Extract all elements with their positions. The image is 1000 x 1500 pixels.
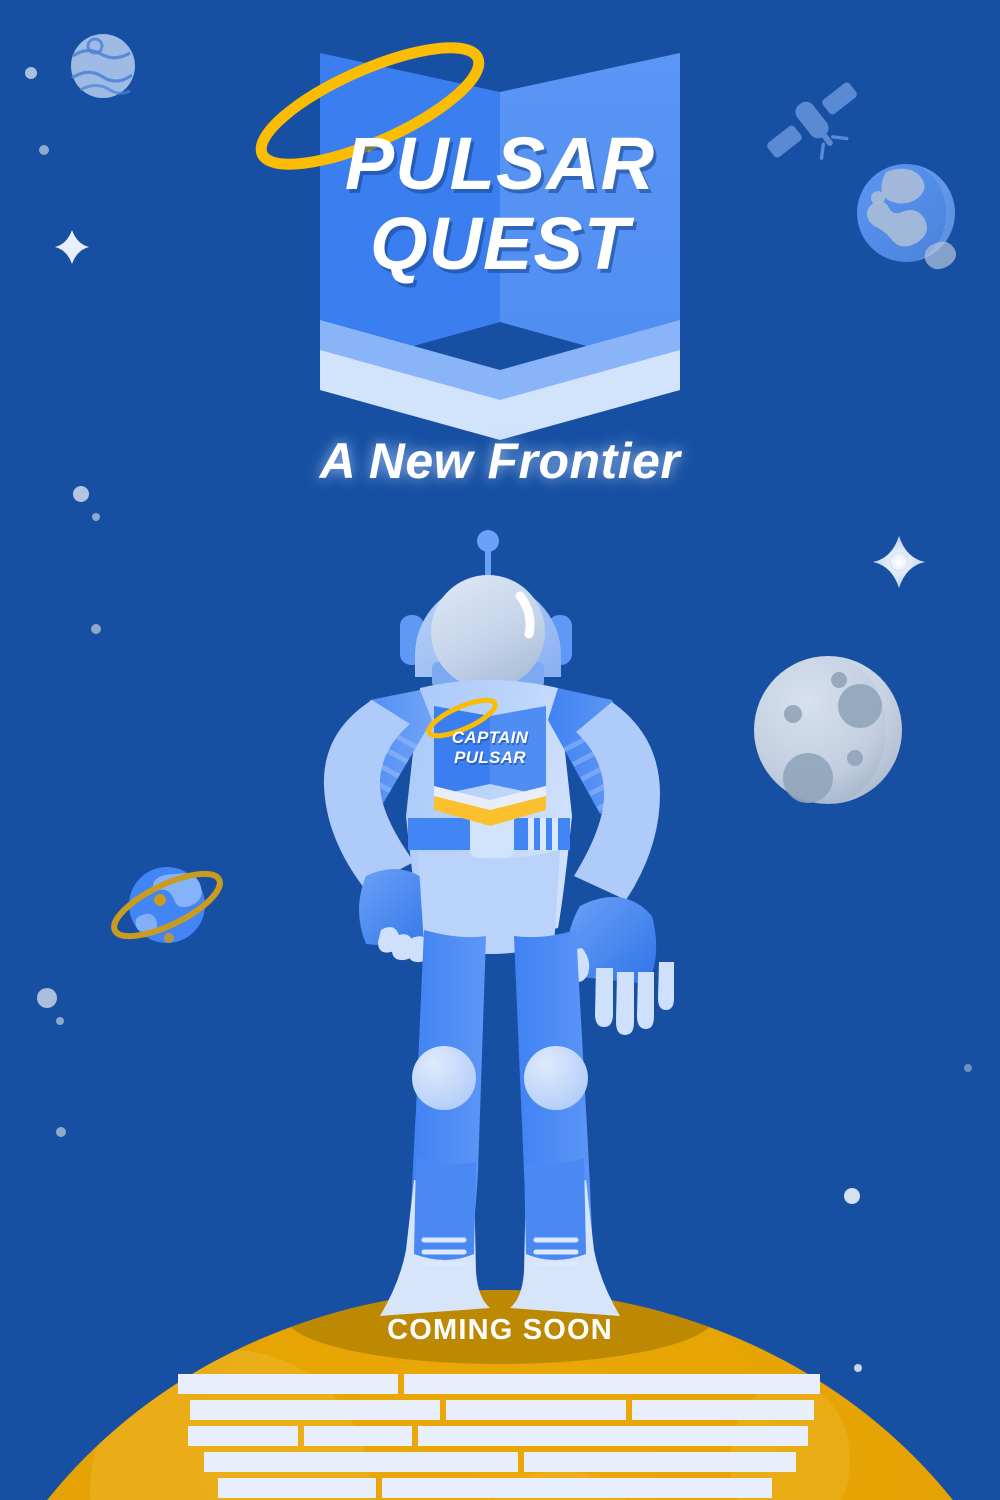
chest-badge-line2: PULSAR — [390, 749, 590, 766]
poster-canvas: PULSAR QUEST A New Frontier COMING SOON — [0, 0, 1000, 1500]
boot-shaft-left — [414, 1158, 476, 1260]
knee-pad-right — [524, 1046, 588, 1110]
knee-pad-left — [412, 1046, 476, 1110]
chest-badge-line1: CAPTAIN — [390, 729, 590, 746]
boot-shaft-right — [524, 1158, 586, 1260]
belt-stripes — [528, 818, 558, 850]
